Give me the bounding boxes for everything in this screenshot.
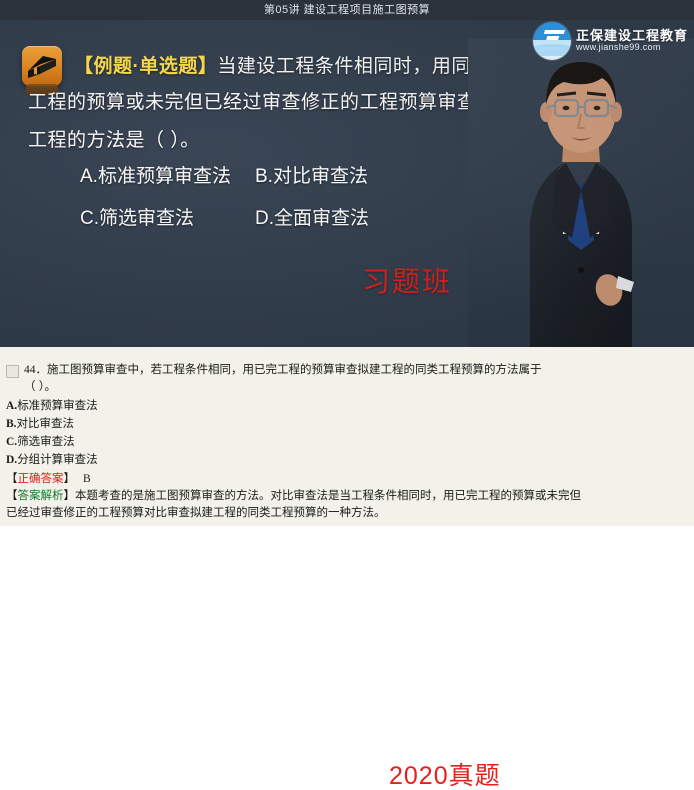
option-a-text: 标准预算审查法 xyxy=(17,400,98,412)
window-titlebar: 第05讲 建设工程项目施工图预算 xyxy=(0,0,694,20)
analysis-label: 答案解析 xyxy=(18,490,64,502)
question-number: 44． xyxy=(24,364,47,376)
correct-bracket-open: 【 xyxy=(6,473,18,485)
slide-question-line3: 工程的方法是（ ）。 xyxy=(28,122,200,160)
option-b-text: 对比审查法 xyxy=(17,418,75,430)
analysis-bracket-open: 【 xyxy=(6,490,18,502)
question-blank: （ ）。 xyxy=(24,379,688,396)
slide-question-line2: 工程的预算或未完但已经过审查修正的工程预算审查拟建 xyxy=(28,84,516,122)
brand-url: www.jianshe99.com xyxy=(576,43,688,52)
slide-options: A.标准预算审查法 B.对比审查法 C.筛选审查法 D.全面审查法 xyxy=(80,156,369,240)
option-b-key: B. xyxy=(6,418,17,430)
correct-answer-label: 正确答案 xyxy=(18,473,64,485)
course-video-player-page: 第05讲 建设工程项目施工图预算 正保建设工程教育 www.jianshe99.… xyxy=(0,0,694,526)
option-a-key: A. xyxy=(6,400,17,412)
option-c[interactable]: C.筛选审查法 xyxy=(6,433,688,451)
brand-name: 正保建设工程教育 xyxy=(576,29,688,43)
brand-watermark: 正保建设工程教育 www.jianshe99.com xyxy=(533,22,688,60)
year-stamp: 2020真题 xyxy=(389,768,501,785)
slide-option-b: B.对比审查法 xyxy=(255,156,368,198)
slide-option-d: D.全面审查法 xyxy=(255,198,369,240)
slide-option-a: A.标准预算审查法 xyxy=(80,156,255,198)
checkbox-unchecked-icon[interactable] xyxy=(6,365,19,378)
slide-option-row-2: C.筛选审查法 D.全面审查法 xyxy=(80,198,369,240)
correct-bracket-close: 】 xyxy=(64,473,76,485)
analysis-text-line1: 本题考查的是施工图预算审查的方法。对比审查法是当工程条件相同时，用已完工程的预算… xyxy=(75,490,581,502)
correct-answer-line: 【正确答案】B xyxy=(6,471,688,488)
option-d[interactable]: D.分组计算审查法 xyxy=(6,451,688,469)
question-body: 44．施工图预算审查中，若工程条件相同，用已完工程的预算审查拟建工程的同类工程预… xyxy=(24,362,688,396)
slide-option-c: C.筛选审查法 xyxy=(80,198,255,240)
question-text: 施工图预算审查中，若工程条件相同，用已完工程的预算审查拟建工程的同类工程预算的方… xyxy=(47,364,542,376)
option-d-key: D. xyxy=(6,454,17,466)
presenter-video xyxy=(468,38,694,347)
slide-question-tag: 【例题·单选题】 xyxy=(74,56,217,77)
option-c-text: 筛选审查法 xyxy=(17,436,75,448)
option-d-text: 分组计算审查法 xyxy=(17,454,98,466)
brand-wave-logo-icon xyxy=(533,22,571,60)
correct-answer-value: B xyxy=(83,473,91,485)
option-a[interactable]: A.标准预算审查法 xyxy=(6,397,688,415)
brand-text-block: 正保建设工程教育 www.jianshe99.com xyxy=(576,29,688,52)
analysis-bracket-close: 】 xyxy=(64,490,76,502)
slide-option-row-1: A.标准预算审查法 B.对比审查法 xyxy=(80,156,369,198)
option-b[interactable]: B.对比审查法 xyxy=(6,415,688,433)
open-book-icon xyxy=(22,46,62,86)
option-c-key: C. xyxy=(6,436,17,448)
analysis-line: 【答案解析】本题考查的是施工图预算审查的方法。对比审查法是当工程条件相同时，用已… xyxy=(6,488,688,505)
video-stage[interactable]: 正保建设工程教育 www.jianshe99.com 【例题·单选题】当建设工程… xyxy=(0,20,694,347)
analysis-text-line2: 已经过审查修正的工程预算对比审查拟建工程的同类工程预算的一种方法。 xyxy=(6,507,386,519)
question-header: 44．施工图预算审查中，若工程条件相同，用已完工程的预算审查拟建工程的同类工程预… xyxy=(6,362,688,396)
question-options: A.标准预算审查法 B.对比审查法 C.筛选审查法 D.分组计算审查法 xyxy=(6,397,688,469)
question-document-panel: 44．施工图预算审查中，若工程条件相同，用已完工程的预算审查拟建工程的同类工程预… xyxy=(0,354,694,526)
analysis-text-line2-wrap: 已经过审查修正的工程预算对比审查拟建工程的同类工程预算的一种方法。 xyxy=(6,505,688,522)
lecture-title: 第05讲 建设工程项目施工图预算 xyxy=(0,0,694,20)
slide-class-stamp: 习题班 xyxy=(362,260,452,300)
